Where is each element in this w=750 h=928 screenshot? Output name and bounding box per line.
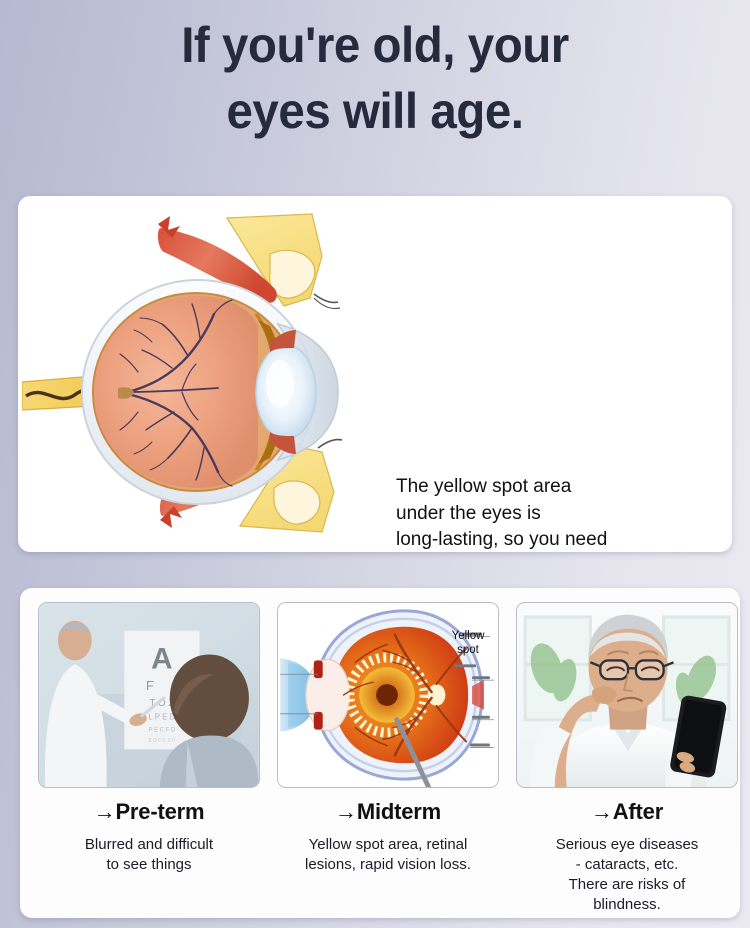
stage-caption: Blurred and difficult to see things [85,835,213,875]
stage-caption: Yellow spot area, retinal lesions, rapid… [305,835,471,875]
stage-caption-line-3: There are risks of [569,876,686,893]
elderly-man-squinting-at-phone-photo [516,602,738,788]
stage-caption-line-2: to see things [106,856,191,873]
stage-caption-line-2: - cataracts, etc. [576,856,679,873]
stage-item-midterm[interactable]: Yellow spot →Midterm Yellow spot area, r… [277,602,499,915]
stage-title: →After [591,799,663,825]
eye-info-text: The yellow spot area under the eyes is l… [396,474,732,552]
stage-caption-line-1: Yellow spot area, retinal [309,836,468,853]
stage-list: A F G T O Z L P E D P E C F D E D F C Z … [20,588,740,915]
page-header: If you're old, your eyes will age. [0,0,750,144]
stage-caption: Serious eye diseases - cataracts, etc. T… [556,835,699,915]
stage-caption-line-2: lesions, rapid vision loss. [305,856,471,873]
info-line-3: long-lasting, so you need [396,527,732,552]
stage-caption-line-1: Blurred and difficult [85,836,213,853]
retina-macula-diagram: Yellow spot [277,602,499,788]
eye-cross-section-illustration [22,196,372,552]
stage-title: →Midterm [335,799,441,825]
info-line-2: under the eyes is [396,501,732,528]
stage-caption-line-1: Serious eye diseases [556,836,699,853]
stage-item-pre-term[interactable]: A F G T O Z L P E D P E C F D E D F C Z … [38,602,260,915]
page-title-line-2: eyes will age. [226,83,523,139]
info-line-1: The yellow spot area [396,474,732,501]
yellow-spot-label-line-1: Yellow [452,630,485,642]
progression-stages-card: A F G T O Z L P E D P E C F D E D F C Z … [20,588,740,918]
stage-title: →Pre-term [94,799,205,825]
page-title-line-1: If you're old, your [181,17,569,73]
yellow-spot-label: Yellow spot [442,629,494,657]
stage-caption-line-4: blindness. [593,896,661,913]
eye-chart-examination-photo: A F G T O Z L P E D P E C F D E D F C Z … [38,602,260,788]
stage-item-after[interactable]: →After Serious eye diseases - cataracts,… [516,602,738,915]
yellow-spot-label-line-2: spot [457,644,479,656]
page-title: If you're old, your eyes will age. [47,12,703,144]
eye-info-card: The yellow spot area under the eyes is l… [18,196,732,552]
